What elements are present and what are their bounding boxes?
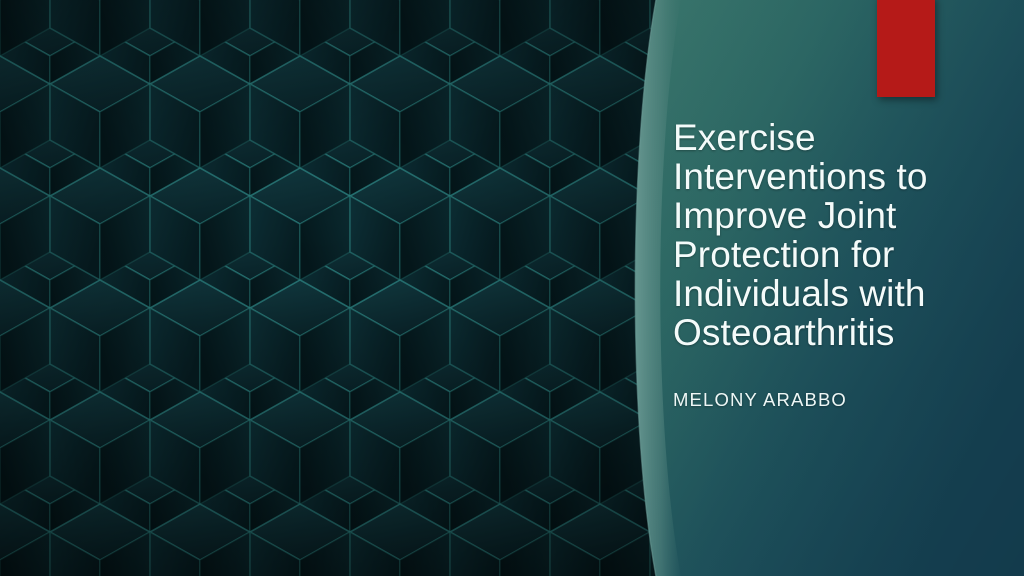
title-text-block: Exercise Interventions to Improve Joint … <box>673 118 973 352</box>
page-title: Exercise Interventions to Improve Joint … <box>673 118 973 352</box>
presentation-title-slide: Exercise Interventions to Improve Joint … <box>0 0 1024 576</box>
presenter-name: MELONY ARABBO <box>673 389 847 411</box>
red-accent-bar <box>877 0 935 97</box>
